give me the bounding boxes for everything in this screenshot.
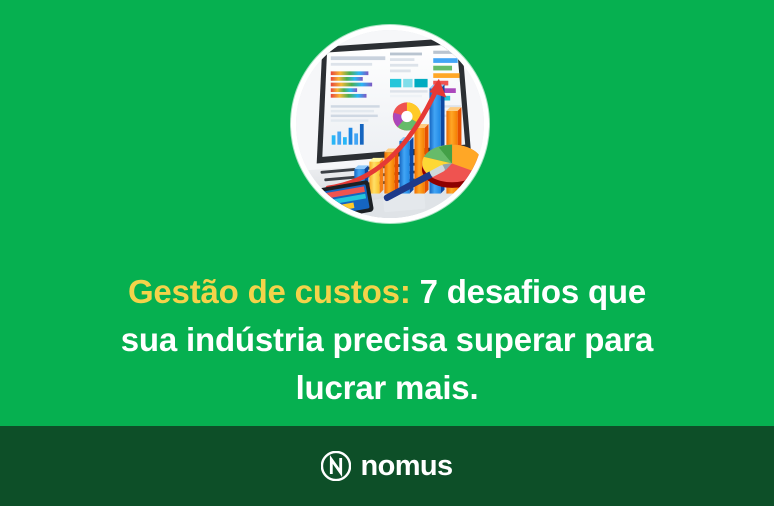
headline-accent: Gestão de custos: — [128, 273, 411, 310]
nomus-circle-icon — [321, 451, 351, 481]
promo-banner: Gestão de custos: 7 desafios que sua ind… — [0, 0, 774, 506]
headline-line-1: Gestão de custos: 7 desafios que — [50, 268, 724, 316]
headline-line-1-rest: 7 desafios que — [411, 273, 646, 310]
nomus-wordmark: nomus — [360, 452, 452, 481]
hero-photo — [296, 30, 484, 218]
headline: Gestão de custos: 7 desafios que sua ind… — [0, 268, 774, 412]
hero-image — [291, 25, 489, 223]
nomus-logo[interactable]: nomus — [321, 451, 452, 481]
footer-bar: nomus — [0, 426, 774, 506]
headline-line-2: sua indústria precisa superar para — [50, 316, 724, 364]
headline-line-3: lucrar mais. — [50, 364, 724, 412]
